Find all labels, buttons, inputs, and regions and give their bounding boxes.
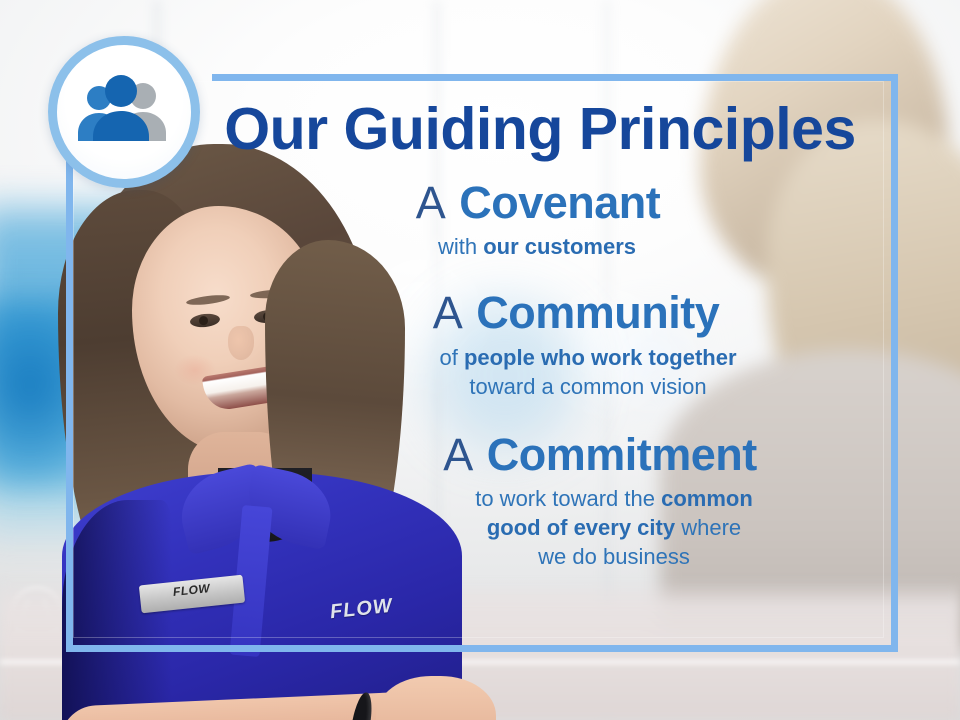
principle-heading-community: A Community	[200, 289, 880, 336]
principle-subtext-commitment: to work toward the common good of every …	[200, 484, 880, 571]
page-title: Our Guiding Principles	[200, 100, 880, 159]
principle-heading-covenant: A Covenant	[200, 179, 880, 226]
commitment-line2-tail: where	[675, 515, 741, 540]
poster-text-area: Our Guiding Principles A Covenant with o…	[200, 82, 880, 571]
covenant-sub-lead: with	[438, 234, 483, 259]
principle-block-commitment: A Commitment to work toward the common g…	[200, 431, 880, 571]
principle-article: A	[433, 287, 464, 338]
covenant-sub-bold: our customers	[483, 234, 636, 259]
principle-subtext-community: of people who work together toward a com…	[200, 343, 880, 401]
guiding-principles-poster: FLOW FLOW Our Guiding Princ	[0, 0, 960, 720]
principle-article: A	[443, 429, 474, 480]
commitment-sub-bold: common	[661, 486, 753, 511]
commitment-line3: we do business	[538, 544, 690, 569]
principle-keyword-commitment: Commitment	[487, 429, 757, 480]
principle-block-community: A Community of people who work together …	[200, 289, 880, 400]
community-sub-line2: toward a common vision	[469, 374, 706, 399]
people-group-icon-badge	[48, 36, 200, 188]
principle-keyword-community: Community	[476, 287, 719, 338]
people-group-icon	[72, 72, 176, 152]
principle-keyword-covenant: Covenant	[459, 177, 660, 228]
principle-article: A	[416, 177, 447, 228]
principle-block-covenant: A Covenant with our customers	[200, 179, 880, 261]
community-sub-bold: people who work together	[464, 345, 737, 370]
principle-subtext-covenant: with our customers	[200, 232, 880, 261]
community-sub-lead: of	[439, 345, 463, 370]
commitment-line2-bold: good of every city	[487, 515, 675, 540]
principle-heading-commitment: A Commitment	[200, 431, 880, 478]
commitment-sub-lead: to work toward the	[475, 486, 661, 511]
